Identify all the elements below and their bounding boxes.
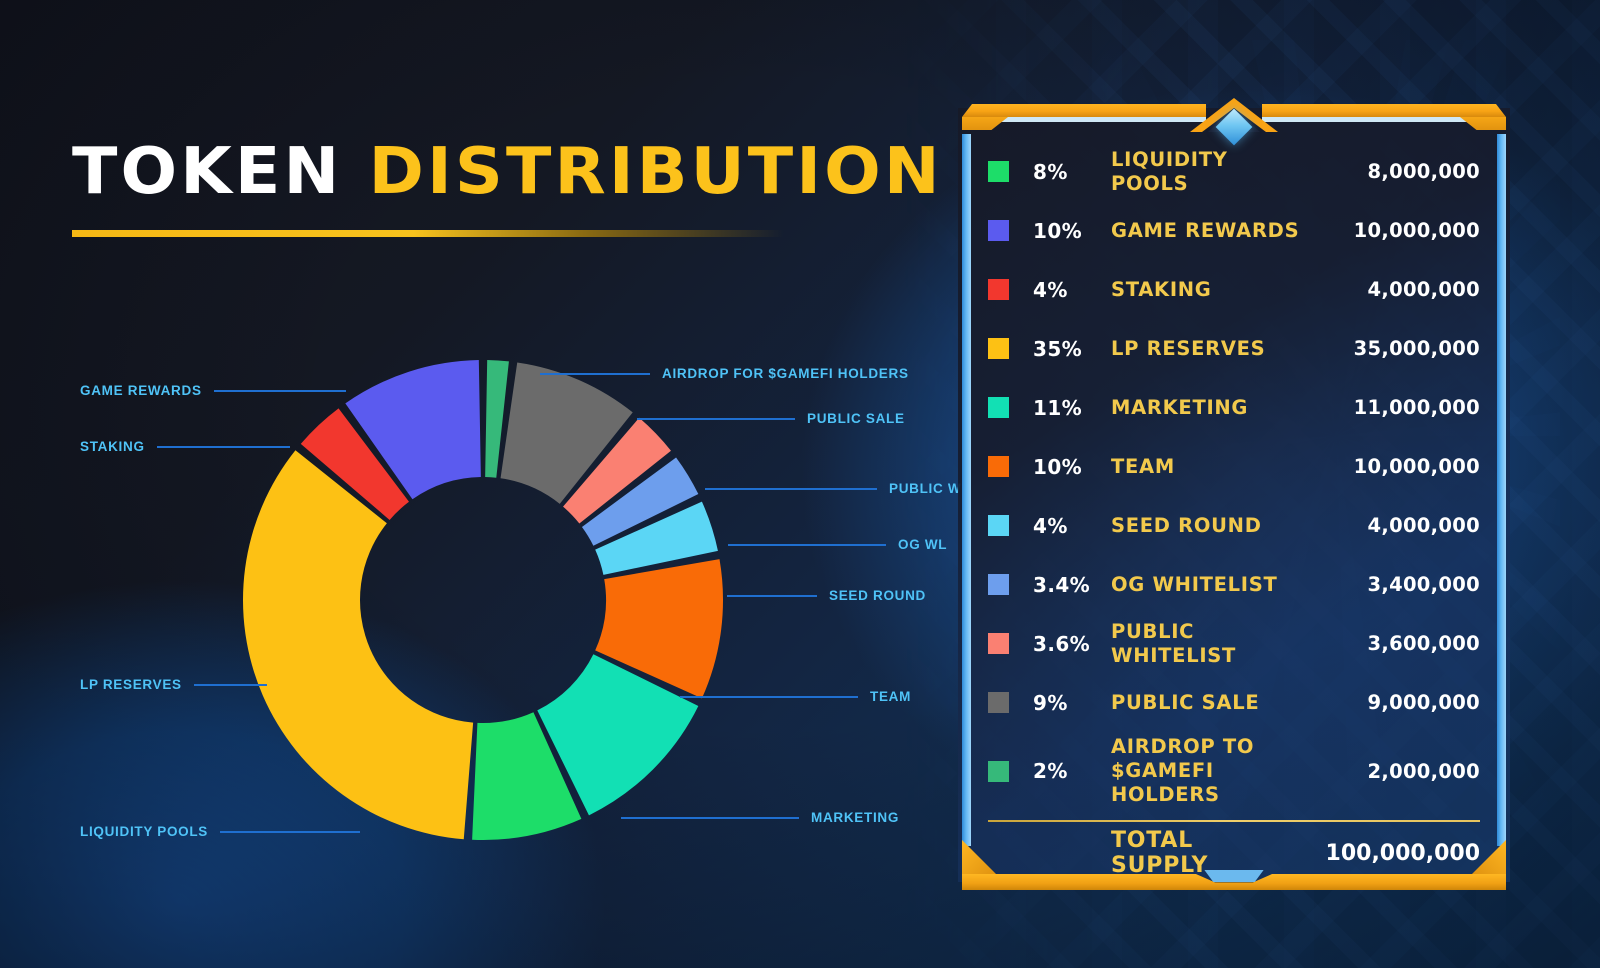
row-name: SEED ROUND	[1111, 514, 1310, 538]
chart-label-right: SEED ROUND	[727, 588, 926, 603]
row-percent: 11%	[1033, 396, 1111, 420]
row-amount: 9,000,000	[1310, 691, 1480, 714]
row-name: AIRDROP TO$GAMEFI HOLDERS	[1111, 735, 1310, 806]
legend-swatch	[988, 279, 1009, 300]
chart-leader-line	[728, 544, 886, 546]
page-title: TOKEN DISTRIBUTION	[72, 140, 862, 204]
title-block: TOKEN DISTRIBUTION	[72, 140, 832, 237]
chart-leader-line	[727, 595, 817, 597]
chart-label-right: PUBLIC WL	[705, 481, 970, 496]
row-percent: 4%	[1033, 278, 1111, 302]
row-amount: 4,000,000	[1310, 514, 1480, 537]
chart-leader-line	[705, 488, 877, 490]
page-title-word-distribution: DISTRIBUTION	[369, 135, 943, 209]
chart-label-text: PUBLIC SALE	[807, 411, 905, 426]
chart-leader-line	[194, 684, 267, 686]
chart-label-left: LIQUIDITY POOLS	[80, 824, 360, 839]
row-percent: 4%	[1033, 514, 1111, 538]
chart-label-right: OG WL	[728, 537, 947, 552]
chart-leader-line	[214, 390, 346, 392]
donut-slice	[243, 450, 473, 839]
chart-label-right: MARKETING	[621, 810, 899, 825]
legend-swatch	[988, 161, 1009, 182]
row-name: PUBLIC SALE	[1111, 691, 1310, 715]
legend-swatch	[988, 397, 1009, 418]
table-row[interactable]: 4%SEED ROUND4,000,000	[988, 496, 1480, 555]
chart-label-text: SEED ROUND	[829, 588, 926, 603]
row-percent: 3.4%	[1033, 573, 1111, 597]
row-percent: 2%	[1033, 759, 1111, 783]
chart-label-text: LIQUIDITY POOLS	[80, 824, 208, 839]
chart-label-right: AIRDROP FOR $GAMEFI HOLDERS	[540, 366, 909, 381]
legend-swatch	[988, 220, 1009, 241]
row-name: GAME REWARDS	[1111, 219, 1310, 243]
frame-rail-right	[1497, 134, 1506, 846]
chart-leader-line	[540, 373, 650, 375]
legend-swatch	[988, 761, 1009, 782]
row-percent: 10%	[1033, 219, 1111, 243]
table-row[interactable]: 2%AIRDROP TO$GAMEFI HOLDERS2,000,000	[988, 732, 1480, 810]
frame-top-bar-right	[1262, 104, 1506, 117]
legend-swatch	[988, 692, 1009, 713]
table-row[interactable]: 4%STAKING4,000,000	[988, 260, 1480, 319]
row-name: LIQUIDITY POOLS	[1111, 148, 1310, 196]
row-percent: 3.6%	[1033, 632, 1111, 656]
row-name: OG WHITELIST	[1111, 573, 1310, 597]
row-amount: 4,000,000	[1310, 278, 1480, 301]
legend-swatch	[988, 338, 1009, 359]
chart-leader-line	[220, 831, 360, 833]
chart-leader-line	[621, 817, 799, 819]
chart-label-left: GAME REWARDS	[80, 383, 346, 398]
row-amount: 2,000,000	[1310, 760, 1480, 783]
frame-top-bar-left	[962, 104, 1206, 117]
chart-label-right: PUBLIC SALE	[637, 411, 905, 426]
donut-chart-svg	[228, 352, 738, 852]
chart-leader-line	[637, 418, 795, 420]
legend-swatch	[988, 515, 1009, 536]
legend-swatch	[988, 574, 1009, 595]
table-row[interactable]: 10%GAME REWARDS10,000,000	[988, 201, 1480, 260]
frame-rail-left	[962, 134, 971, 846]
row-amount: 3,400,000	[1310, 573, 1480, 596]
chart-leader-line	[157, 446, 290, 448]
legend-swatch	[988, 456, 1009, 477]
title-underline-rule	[72, 230, 784, 237]
chart-label-left: STAKING	[80, 439, 290, 454]
row-percent: 8%	[1033, 160, 1111, 184]
row-name: STAKING	[1111, 278, 1310, 302]
donut-slice-group	[243, 360, 723, 840]
chart-label-right: TEAM	[680, 689, 911, 704]
legend-swatch	[988, 633, 1009, 654]
total-supply-amount: 100,000,000	[1270, 841, 1480, 866]
table-row[interactable]: 3.6%PUBLIC WHITELIST3,600,000	[988, 614, 1480, 673]
chart-label-left: LP RESERVES	[80, 677, 267, 692]
row-name: LP RESERVES	[1111, 337, 1310, 361]
token-allocation-table: 8%LIQUIDITY POOLS8,000,00010%GAME REWARD…	[988, 142, 1480, 884]
table-row[interactable]: 3.4%OG WHITELIST3,400,000	[988, 555, 1480, 614]
table-row[interactable]: 35%LP RESERVES35,000,000	[988, 319, 1480, 378]
row-amount: 3,600,000	[1310, 632, 1480, 655]
row-percent: 35%	[1033, 337, 1111, 361]
chart-label-text: STAKING	[80, 439, 145, 454]
table-row[interactable]: 11%MARKETING11,000,000	[988, 378, 1480, 437]
total-supply-label: TOTAL SUPPLY	[1111, 828, 1270, 878]
chart-label-text: OG WL	[898, 537, 947, 552]
row-amount: 8,000,000	[1310, 160, 1480, 183]
row-amount: 35,000,000	[1310, 337, 1480, 360]
row-percent: 9%	[1033, 691, 1111, 715]
row-amount: 10,000,000	[1310, 219, 1480, 242]
chart-label-text: MARKETING	[811, 810, 899, 825]
chart-label-text: LP RESERVES	[80, 677, 182, 692]
chart-leader-line	[680, 696, 858, 698]
row-percent: 10%	[1033, 455, 1111, 479]
table-row[interactable]: 10%TEAM10,000,000	[988, 437, 1480, 496]
token-table-panel: 8%LIQUIDITY POOLS8,000,00010%GAME REWARD…	[944, 78, 1524, 908]
chart-label-text: TEAM	[870, 689, 911, 704]
donut-chart	[228, 352, 738, 852]
table-row[interactable]: 9%PUBLIC SALE9,000,000	[988, 673, 1480, 732]
chart-label-text: AIRDROP FOR $GAMEFI HOLDERS	[662, 366, 909, 381]
row-name: PUBLIC WHITELIST	[1111, 620, 1310, 668]
row-name: MARKETING	[1111, 396, 1310, 420]
chart-label-text: GAME REWARDS	[80, 383, 202, 398]
row-amount: 11,000,000	[1310, 396, 1480, 419]
table-row[interactable]: 8%LIQUIDITY POOLS8,000,000	[988, 142, 1480, 201]
row-amount: 10,000,000	[1310, 455, 1480, 478]
row-name: TEAM	[1111, 455, 1310, 479]
token-allocation-rows: 8%LIQUIDITY POOLS8,000,00010%GAME REWARD…	[988, 142, 1480, 810]
total-supply-row: TOTAL SUPPLY 100,000,000	[988, 822, 1480, 884]
page-title-word-token: TOKEN	[72, 135, 342, 209]
